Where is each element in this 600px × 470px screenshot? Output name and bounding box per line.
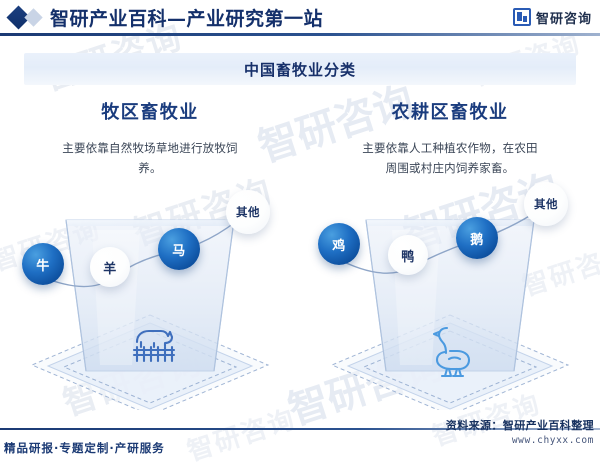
node-cattle[interactable]: 牛 <box>22 243 64 285</box>
source-url: www.chyxx.com <box>446 435 594 446</box>
page-title: 智研产业百科—产业研究第一站 <box>50 4 323 31</box>
panel-title-farming: 农耕区畜牧业 <box>300 98 600 124</box>
source-block: 资料来源：智研产业百科整理 www.chyxx.com <box>446 417 594 446</box>
diagram-stage: 牧区畜牧业 主要依靠自然牧场草地进行放牧饲养。 牛 羊 马 其他 <box>0 90 600 410</box>
panel-desc-pastoral: 主要依靠自然牧场草地进行放牧饲养。 <box>62 138 238 178</box>
node-other[interactable]: 其他 <box>226 190 270 234</box>
node-label: 牛 <box>36 255 50 274</box>
node-sheep[interactable]: 羊 <box>90 247 130 287</box>
node-duck[interactable]: 鸭 <box>388 235 428 275</box>
node-goose[interactable]: 鹅 <box>456 217 498 259</box>
banner-title: 中国畜牧业分类 <box>244 59 356 80</box>
node-label: 其他 <box>534 196 558 212</box>
node-label: 鹅 <box>470 229 484 248</box>
node-other[interactable]: 其他 <box>524 182 568 226</box>
source-text: 资料来源：智研产业百科整理 <box>446 417 594 433</box>
panel-farming: 农耕区畜牧业 主要依靠人工种植农作物，在农田周围或村庄内饲养家畜。 鸡 鸭 鹅 … <box>300 90 600 410</box>
brand-logo: 智研咨询 <box>513 8 592 27</box>
node-label: 鸭 <box>401 246 415 265</box>
node-chicken[interactable]: 鸡 <box>318 223 360 265</box>
node-horse[interactable]: 马 <box>158 228 200 270</box>
node-label: 鸡 <box>332 235 346 254</box>
node-label: 其他 <box>236 204 260 220</box>
chart-title-banner: 中国畜牧业分类 <box>24 53 576 85</box>
header-divider <box>0 33 600 36</box>
panel-desc-farming: 主要依靠人工种植农作物，在农田周围或村庄内饲养家畜。 <box>360 138 540 178</box>
diamond-ghost-icon <box>24 8 42 26</box>
panel-title-pastoral: 牧区畜牧业 <box>0 98 300 124</box>
brand-name: 智研咨询 <box>536 8 592 27</box>
node-label: 羊 <box>103 258 117 277</box>
node-label: 马 <box>172 240 186 259</box>
page-header: 智研产业百科—产业研究第一站 智研咨询 <box>0 0 600 34</box>
panel-pastoral: 牧区畜牧业 主要依靠自然牧场草地进行放牧饲养。 牛 羊 马 其他 <box>0 90 300 410</box>
zhiyan-logo-icon <box>513 8 531 26</box>
footer-services: 精品研报·专题定制·产研服务 <box>4 440 165 456</box>
